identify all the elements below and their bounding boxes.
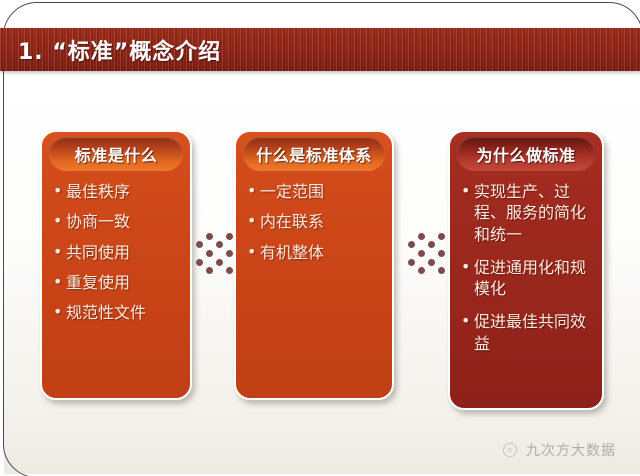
page-title: 1. “标准”概念介绍 [18,34,221,66]
dotted-arrow-right-icon [216,259,223,266]
list-item: 促进最佳共同效益 [461,311,593,354]
dotted-arrow-right-icon [428,259,435,266]
card-heading-pill: 什么是标准体系 [243,137,385,171]
dotted-arrow-right-icon [206,267,213,274]
list-item: 内在联系 [247,211,383,232]
list-item: 促进通用化和规模化 [461,257,593,300]
card-why-standard[interactable]: 为什么做标准 实现生产、过程、服务的简化和统一 促进通用化和规模化 促进最佳共同… [448,130,604,410]
card-standard-system[interactable]: 什么是标准体系 一定范围 内在联系 有机整体 [234,130,394,400]
dotted-arrow-right-icon [226,233,233,240]
dotted-arrow-right-icon [226,267,233,274]
dotted-arrow-right-icon [226,250,233,257]
dotted-arrow-right-icon [418,233,425,240]
dotted-arrow-right-icon [206,250,213,257]
connector-arrow-2 [408,233,452,279]
card-heading-label: 标准是什么 [75,142,158,166]
list-item: 重复使用 [53,272,181,293]
slide-canvas: 1. “标准”概念介绍 标准是什么 最佳秩序 协商一致 共同使用 重复使用 规范… [0,0,640,476]
dotted-arrow-right-icon [196,259,203,266]
card-heading-pill-wrap: 什么是标准体系 [243,137,385,175]
list-item: 规范性文件 [53,302,181,323]
card-standard-definition[interactable]: 标准是什么 最佳秩序 协商一致 共同使用 重复使用 规范性文件 [40,130,192,400]
dotted-arrow-right-icon [408,259,415,266]
list-item: 一定范围 [247,181,383,202]
dotted-arrow-right-icon [206,233,213,240]
card-heading-label: 什么是标准体系 [256,142,372,166]
list-item: 共同使用 [53,242,181,263]
list-item: 实现生产、过程、服务的简化和统一 [461,181,593,245]
dotted-arrow-right-icon [438,250,445,257]
dotted-arrow-right-icon [418,267,425,274]
card-heading-pill-wrap: 标准是什么 [49,137,183,175]
dotted-arrow-right-icon [438,267,445,274]
watermark-label: 九次方大数据 [526,440,616,460]
dotted-arrow-right-icon [216,241,223,248]
list-item: 最佳秩序 [53,181,181,202]
dotted-arrow-right-icon [428,241,435,248]
card-bullet-list: 实现生产、过程、服务的简化和统一 促进通用化和规模化 促进最佳共同效益 [450,181,602,354]
circular-logo-icon [500,440,520,460]
card-heading-label: 为什么做标准 [476,142,575,166]
card-heading-pill-wrap: 为什么做标准 [457,137,595,175]
dotted-arrow-right-icon [438,233,445,240]
card-bullet-list: 最佳秩序 协商一致 共同使用 重复使用 规范性文件 [42,181,190,323]
card-heading-pill: 标准是什么 [49,137,183,171]
list-item: 协商一致 [53,211,181,232]
slide-title-band: 1. “标准”概念介绍 [0,28,640,71]
card-heading-pill: 为什么做标准 [457,137,595,171]
dotted-arrow-right-icon [418,250,425,257]
watermark: 九次方大数据 [500,440,616,460]
list-item: 有机整体 [247,242,383,263]
card-bullet-list: 一定范围 内在联系 有机整体 [236,181,392,263]
dotted-arrow-right-icon [196,241,203,248]
dotted-arrow-right-icon [408,241,415,248]
